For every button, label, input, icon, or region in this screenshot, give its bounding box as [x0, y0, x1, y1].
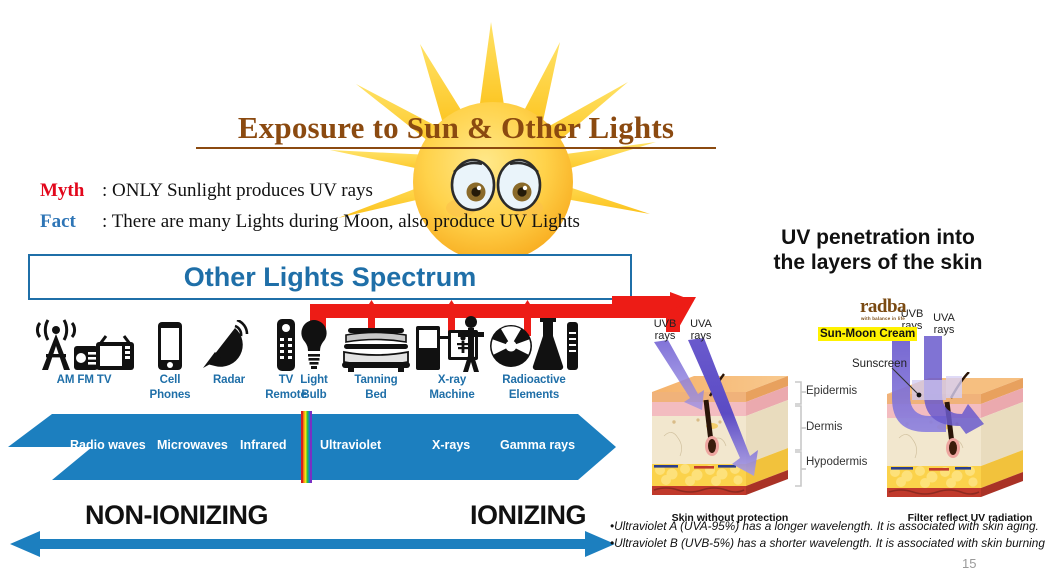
uva-rays-label-right: UVA rays — [928, 312, 960, 336]
uvb-label-line1: UVB — [654, 318, 677, 330]
page-title: Exposure to Sun & Other Lights — [196, 110, 716, 149]
uvb-rays-label-left: UVB rays — [648, 318, 682, 342]
uva-label-line1: UVA — [690, 318, 712, 330]
band-label-radio-waves: Radio waves — [70, 438, 146, 452]
myth-text: ONLY Sunlight produces UV rays — [112, 180, 373, 201]
uv-rays-penetrating — [648, 336, 778, 486]
light-bulb-icon — [286, 316, 342, 372]
uv-penetration-title-line2: the layers of the skin — [718, 250, 1038, 275]
spectrum-source-label: X-ray — [412, 375, 492, 387]
spectrum-source-label: Radar — [198, 375, 260, 387]
band-label-microwaves: Microwaves — [157, 438, 228, 452]
spectrum-source-label: Radioactive — [486, 375, 582, 387]
spectrum-source-radar[interactable]: Radar — [198, 316, 260, 387]
cell-phone-icon — [140, 316, 200, 372]
uva-label-line2: rays — [691, 330, 712, 342]
fact-separator: : — [102, 211, 112, 232]
band-label-xrays: X-rays — [432, 438, 470, 452]
spectrum-source-xray-machine[interactable]: X-ray Machine — [412, 316, 492, 401]
xray-machine-icon — [412, 316, 492, 372]
skin-layer-brackets — [793, 380, 807, 490]
spectrum-source-tanning-bed[interactable]: Tanning Bed — [336, 316, 416, 401]
myth-row: Myth: ONLY Sunlight produces UV rays — [40, 180, 373, 202]
spectrum-source-radioactive-elements[interactable]: Radioactive Elements — [486, 316, 582, 401]
sunscreen-label: Sunscreen — [852, 358, 907, 370]
non-ionizing-label: NON-IONIZING — [85, 500, 268, 531]
spectrum-source-label: Tanning — [336, 375, 416, 387]
layer-label-dermis: Dermis — [806, 421, 842, 433]
ionizing-axis-arrow — [10, 530, 615, 558]
red-right-arrow — [612, 292, 694, 310]
spectrum-source-label-2: Bulb — [286, 390, 342, 402]
spectrum-source-label: Cell — [140, 375, 200, 387]
tanning-bed-icon — [336, 316, 416, 372]
radba-logo-tagline: with balance in life — [838, 316, 928, 321]
myth-label: Myth — [40, 180, 102, 202]
spectrum-source-label-2: Phones — [140, 390, 200, 402]
footnote-uvb: •Ultraviolet B (UVB-5%) has a shorter wa… — [610, 536, 1045, 550]
band-label-infrared: Infrared — [240, 438, 287, 452]
spectrum-source-label-2: Machine — [412, 390, 492, 402]
uv-penetration-title-line1: UV penetration into — [781, 226, 975, 249]
radio-tower-tv-icon — [28, 316, 140, 372]
spectrum-source-label: AM FM TV — [28, 375, 140, 387]
uv-penetration-title: UV penetration into the layers of the sk… — [718, 225, 1038, 275]
radba-logo-text: radba — [838, 298, 928, 316]
spectrum-source-icons: AM FM TV Cell Phones Radar — [0, 316, 620, 408]
spectrum-source-label-2: Bed — [336, 390, 416, 402]
spectrum-source-cell-phones[interactable]: Cell Phones — [140, 316, 200, 401]
radioactive-elements-icon — [486, 316, 582, 372]
layer-label-hypodermis: Hypodermis — [806, 456, 867, 468]
radba-logo: radba with balance in life — [838, 298, 928, 321]
uva-label-right-line2: rays — [934, 324, 955, 336]
sunscreen-pointer-line — [890, 366, 926, 400]
footnote-uva: •Ultraviolet A (UVA-95%) has a longer wa… — [610, 519, 1039, 533]
uva-rays-label-left: UVA rays — [684, 318, 718, 342]
sun-moon-cream-label: Sun-Moon Cream — [818, 327, 917, 341]
visible-light-rainbow-strip — [301, 411, 312, 483]
spectrum-source-label: Light — [286, 375, 342, 387]
spectrum-source-label-2: Elements — [486, 390, 582, 402]
spectrum-source-light-bulb[interactable]: Light Bulb — [286, 316, 342, 401]
uvb-label-line2: rays — [655, 330, 676, 342]
ionizing-label: IONIZING — [470, 500, 586, 531]
page-number: 15 — [962, 556, 976, 571]
band-label-gamma-rays: Gamma rays — [500, 438, 575, 452]
layer-label-epidermis: Epidermis — [806, 385, 857, 397]
band-label-ultraviolet: Ultraviolet — [320, 438, 381, 452]
uva-label-right-line1: UVA — [933, 312, 955, 324]
myth-separator: : — [102, 180, 112, 201]
spectrum-source-am-fm-tv[interactable]: AM FM TV — [28, 316, 140, 387]
radar-dish-icon — [198, 316, 260, 372]
fact-label: Fact — [40, 211, 102, 233]
